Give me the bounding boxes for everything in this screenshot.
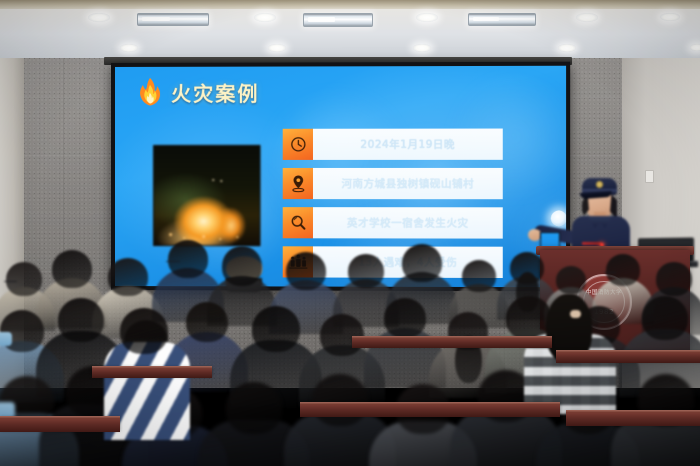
case-detail-row: 河南方城县独树镇砚山铺村 — [283, 168, 503, 199]
ceiling — [0, 0, 700, 62]
ceiling-downlight — [576, 13, 598, 22]
fire-photograph — [153, 145, 260, 246]
ceiling-panel-light — [303, 13, 373, 27]
desk — [566, 412, 700, 426]
audience-member-head — [402, 244, 442, 282]
audience-member-head — [320, 314, 364, 356]
desk — [0, 418, 120, 432]
patterned-hoodie-head — [120, 308, 168, 354]
audience-member-head — [252, 306, 300, 352]
cap-badge-icon — [596, 181, 603, 188]
magnifier-icon — [283, 207, 313, 238]
case-detail-text: 河南方城县独树镇砚山铺村 — [313, 168, 503, 199]
ceiling-downlight — [120, 44, 138, 52]
ceiling-downlight — [660, 13, 680, 21]
ceiling-panel-light — [468, 13, 536, 26]
location-pin-icon — [283, 168, 313, 199]
case-detail-row: 英才学校一宿舍发生火灾 — [283, 207, 503, 238]
desk-edge — [92, 366, 212, 369]
audience-member-head — [656, 262, 692, 296]
desk-edge — [566, 410, 700, 413]
wall-outlet — [645, 170, 654, 183]
audience-member-head — [222, 246, 262, 286]
slide-header: 火灾案例 — [137, 77, 260, 107]
desk-edge — [556, 350, 700, 353]
ceiling-edge-trim — [0, 0, 700, 9]
case-detail-text: 2024年1月19日晚 — [313, 129, 503, 160]
audience-member-head — [52, 250, 92, 288]
desk — [556, 352, 700, 363]
flame-icon — [137, 77, 163, 107]
desk — [300, 404, 560, 417]
ceiling-downlight — [558, 44, 576, 52]
lecture-hall-photo: 火灾案例 2024年1月19日晚河南方城县独树镇砚山铺村英才学校一宿舍发生火灾1… — [0, 0, 700, 466]
ceiling-downlight — [268, 44, 286, 52]
audience-member-head — [642, 296, 688, 340]
ceiling-downlight — [416, 13, 438, 22]
eyeglasses — [604, 272, 616, 274]
eyeglasses — [4, 281, 17, 283]
ceiling-downlight — [413, 44, 431, 52]
eyeglasses — [166, 261, 180, 263]
audience-member-head — [384, 298, 426, 338]
audience-member-head — [348, 254, 384, 288]
desk-edge — [300, 402, 560, 405]
slide-title: 火灾案例 — [171, 77, 259, 106]
face-mask — [0, 332, 12, 346]
audience-member-head — [286, 252, 326, 290]
audience-member-head — [556, 266, 586, 294]
audience-member-head — [226, 382, 282, 434]
ceiling-downlight — [88, 13, 110, 22]
desk — [92, 368, 212, 378]
ceiling-downlight — [254, 13, 276, 22]
case-detail-text: 英才学校一宿舍发生火灾 — [313, 207, 503, 238]
clock-icon — [283, 129, 313, 160]
audience-member-head — [606, 254, 640, 286]
ceiling-panel-light — [137, 13, 209, 26]
audience-member-head — [108, 258, 148, 296]
desk-edge — [352, 336, 552, 339]
hair-tie — [570, 310, 581, 318]
audience-member-head — [168, 240, 208, 278]
audience-member-head — [58, 298, 104, 342]
audience-member-head — [186, 302, 228, 342]
case-detail-row: 2024年1月19日晚 — [283, 129, 503, 160]
desk — [352, 338, 552, 348]
audience-member-head — [462, 260, 496, 292]
ceiling-downlight — [690, 44, 700, 51]
audience-member-head — [6, 262, 42, 296]
audience-member-head — [312, 374, 368, 426]
desk-edge — [0, 416, 120, 419]
